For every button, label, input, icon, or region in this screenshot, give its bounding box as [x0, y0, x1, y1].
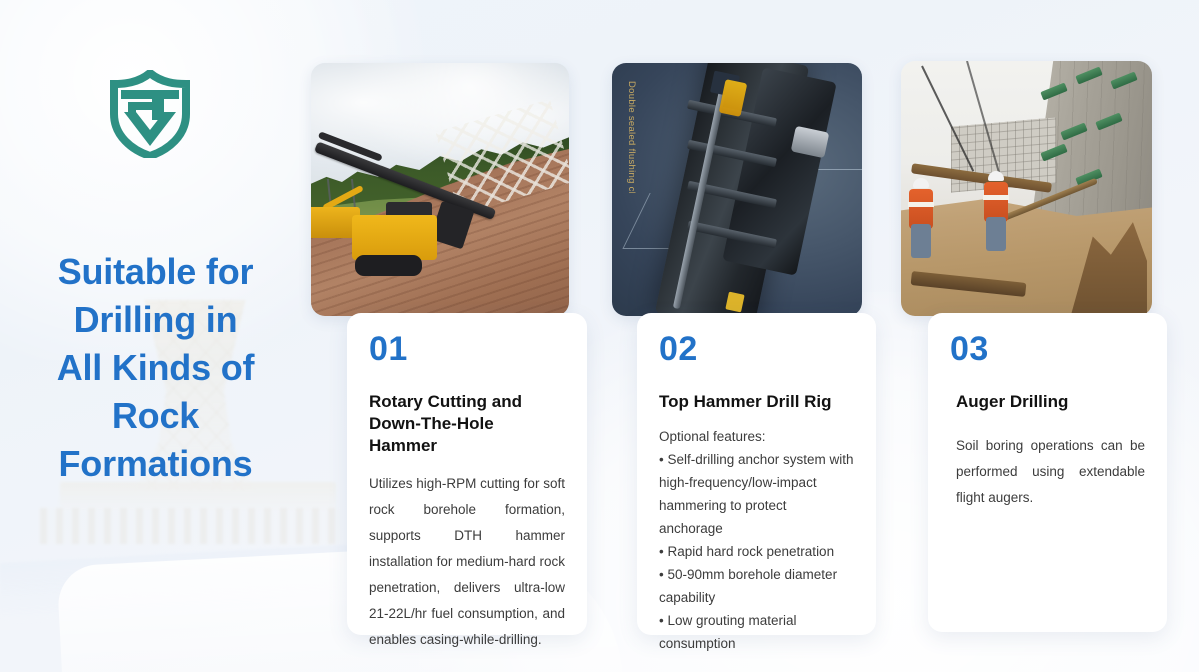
worker-figure	[981, 171, 1011, 261]
left-column: Suitable for Drilling in All Kinds of Ro…	[0, 0, 311, 672]
worker-figure	[906, 178, 936, 268]
feature-card-01-body: 01 Rotary Cutting and Down-The-Hole Hamm…	[347, 313, 587, 635]
feature-card-02-number: 02	[659, 329, 854, 369]
feature-card-02-title: Top Hammer Drill Rig	[659, 391, 854, 413]
feature-card-02-text: Optional features: • Self-drilling ancho…	[659, 425, 854, 655]
feature-card-03-number: 03	[950, 329, 1145, 369]
headline-line-3: All Kinds of	[8, 344, 303, 392]
feature-card-01-title: Rotary Cutting and Down-The-Hole Hammer	[369, 391, 565, 457]
shield-pt-logo-icon	[108, 70, 192, 158]
feature-card-01-number: 01	[369, 329, 565, 369]
feature-card-02-image-label: Double sealed flushing cham	[626, 81, 637, 193]
feature-card-03-text: Soil boring operations can be performed …	[956, 433, 1145, 511]
feature-card-01-text: Utilizes high-RPM cutting for soft rock …	[369, 471, 565, 653]
headline-line-1: Suitable for	[8, 248, 303, 296]
headline-line-2: Drilling in	[8, 296, 303, 344]
feature-card-03-body: 03 Auger Drilling Soil boring operations…	[928, 313, 1167, 632]
feature-card-02-image: Double sealed flushing cham	[612, 63, 862, 316]
feature-card-01-image	[311, 63, 569, 316]
headline-line-5: Formations	[8, 440, 303, 488]
feature-card-03-title: Auger Drilling	[956, 391, 1145, 413]
feature-card-03-image	[901, 61, 1152, 316]
page-title: Suitable for Drilling in All Kinds of Ro…	[8, 248, 303, 488]
feature-card-02-body: 02 Top Hammer Drill Rig Optional feature…	[637, 313, 876, 635]
headline-line-4: Rock	[8, 392, 303, 440]
